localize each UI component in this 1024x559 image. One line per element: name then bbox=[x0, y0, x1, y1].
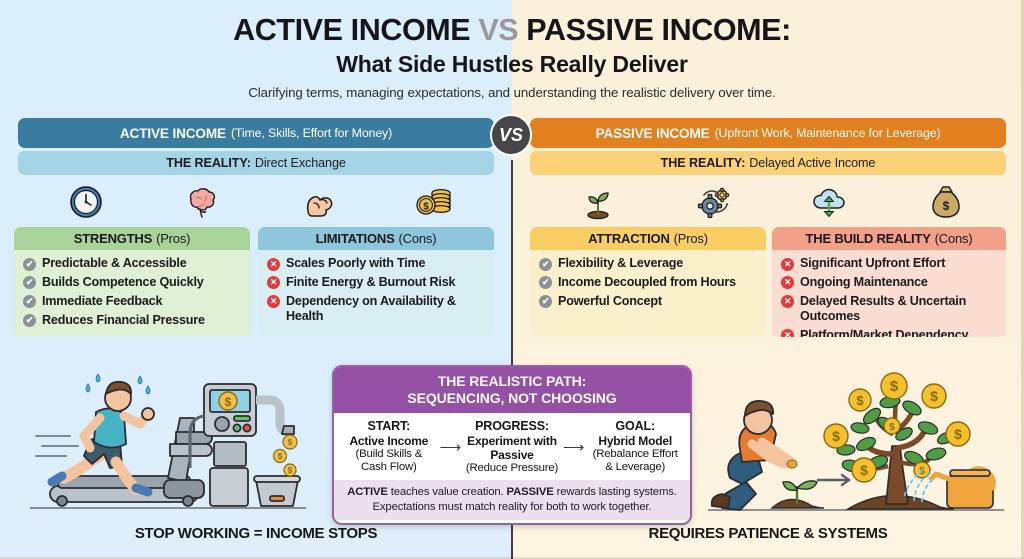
svg-text:$: $ bbox=[930, 388, 938, 404]
card-title-paren: (Cons) bbox=[399, 231, 437, 246]
list-item-label: Flexibility & Leverage bbox=[558, 256, 683, 271]
cross-icon: ✕ bbox=[267, 295, 280, 308]
cross-icon: ✕ bbox=[781, 276, 794, 289]
card-header: STRENGTHS (Pros) bbox=[14, 227, 250, 250]
card-title-paren: (Pros) bbox=[674, 231, 708, 246]
list-item: ✔ Immediate Feedback bbox=[23, 294, 242, 309]
step-note-2: Cash Flow) bbox=[338, 461, 440, 474]
flexed-biceps-icon bbox=[292, 180, 344, 224]
card-body: ✔ Flexibility & Leverage ✔ Income Decoup… bbox=[530, 250, 766, 321]
list-item-label: Reduces Financial Pressure bbox=[42, 313, 205, 328]
step-note-1: (Build Skills & bbox=[338, 448, 440, 461]
path-connector-line bbox=[511, 525, 513, 559]
seedling-icon bbox=[572, 180, 624, 224]
step-main: Experiment with Passive bbox=[461, 434, 563, 462]
list-item: ✕ Platform/Market Dependency bbox=[781, 328, 998, 337]
list-item: ✕ Significant Upfront Effort bbox=[781, 256, 998, 271]
page-description: Clarifying terms, managing expectations,… bbox=[0, 85, 1024, 100]
footer-mid-2: rewards lasting systems. bbox=[554, 486, 677, 498]
icon-row-active: $ bbox=[60, 180, 460, 224]
list-item: ✕ Ongoing Maintenance bbox=[781, 275, 998, 290]
reality-passive-text: Delayed Active Income bbox=[749, 156, 875, 170]
svg-text:$: $ bbox=[860, 462, 868, 478]
clock-icon bbox=[60, 180, 112, 224]
banner-passive-sub: (Upfront Work, Maintenance for Leverage) bbox=[715, 126, 941, 140]
check-icon: ✔ bbox=[23, 295, 36, 308]
card-active-limitations: LIMITATIONS (Cons) ✕ Scales Poorly with … bbox=[258, 227, 494, 337]
path-step-start: START: Active Income (Build Skills & Cas… bbox=[338, 419, 440, 474]
money-bag-icon: $ bbox=[920, 180, 972, 224]
path-step-goal: GOAL: Hybrid Model (Rebalance Effort & L… bbox=[584, 419, 686, 474]
reality-strip-passive: THE REALITY: Delayed Active Income bbox=[530, 151, 1006, 175]
card-body: ✔ Predictable & Accessible ✔ Builds Comp… bbox=[14, 250, 250, 337]
list-item-label: Immediate Feedback bbox=[42, 294, 162, 309]
arrow-icon: ⟶ bbox=[440, 419, 462, 456]
list-item: ✔ Flexibility & Leverage bbox=[539, 256, 758, 271]
list-item-label: Delayed Results & Uncertain Outcomes bbox=[800, 294, 998, 325]
card-title: ATTRACTION bbox=[588, 231, 670, 246]
check-icon: ✔ bbox=[539, 276, 552, 289]
card-body: ✕ Scales Poorly with Time ✕ Finite Energ… bbox=[258, 250, 494, 336]
list-item-label: Builds Competence Quickly bbox=[42, 275, 204, 290]
path-header: THE REALISTIC PATH: SEQUENCING, NOT CHOO… bbox=[334, 367, 690, 413]
cloud-sync-icon bbox=[804, 180, 856, 224]
card-title: LIMITATIONS bbox=[316, 231, 395, 246]
svg-text:$: $ bbox=[832, 428, 840, 444]
list-item-label: Dependency on Availability & Health bbox=[286, 294, 486, 325]
card-title: STRENGTHS bbox=[74, 231, 152, 246]
footer-strong-active: ACTIVE bbox=[347, 486, 388, 498]
path-steps: START: Active Income (Build Skills & Cas… bbox=[334, 413, 690, 480]
banner-active-title: ACTIVE INCOME bbox=[120, 126, 226, 141]
page-title: ACTIVE INCOME VS PASSIVE INCOME: bbox=[0, 14, 1024, 47]
check-icon: ✔ bbox=[23, 258, 36, 271]
card-passive-attraction: ATTRACTION (Pros) ✔ Flexibility & Levera… bbox=[530, 227, 766, 337]
arrow-icon: ⟶ bbox=[563, 419, 585, 456]
svg-text:$: $ bbox=[288, 438, 293, 447]
card-passive-build-reality: THE BUILD REALITY (Cons) ✕ Significant U… bbox=[772, 227, 1006, 337]
caption-active: STOP WORKING = INCOME STOPS bbox=[0, 525, 512, 542]
caption-passive: REQUIRES PATIENCE & SYSTEMS bbox=[512, 525, 1024, 542]
list-item-label: Platform/Market Dependency bbox=[800, 328, 968, 337]
path-header-line2: SEQUENCING, NOT CHOOSING bbox=[338, 390, 686, 407]
card-header: LIMITATIONS (Cons) bbox=[258, 227, 494, 250]
list-item: ✕ Dependency on Availability & Health bbox=[267, 294, 486, 325]
infographic-root: ACTIVE INCOME VS PASSIVE INCOME: What Si… bbox=[0, 0, 1024, 559]
page-subtitle-bold: What Side Hustles Really Deliver bbox=[0, 51, 1024, 78]
list-item-label: Powerful Concept bbox=[558, 294, 662, 309]
realistic-path-card: THE REALISTIC PATH: SEQUENCING, NOT CHOO… bbox=[332, 365, 692, 525]
path-footer-line1: ACTIVE teaches value creation. PASSIVE r… bbox=[342, 485, 682, 500]
list-item-label: Income Decoupled from Hours bbox=[558, 275, 736, 290]
step-note-1: (Rebalance Effort bbox=[584, 448, 686, 461]
card-title: THE BUILD REALITY bbox=[806, 231, 931, 246]
list-item: ✔ Reduces Financial Pressure bbox=[23, 313, 242, 328]
list-item: ✔ Powerful Concept bbox=[539, 294, 758, 309]
check-icon: ✔ bbox=[23, 314, 36, 327]
vs-badge-label: VS bbox=[499, 125, 523, 146]
reality-active-label: THE REALITY: bbox=[166, 156, 251, 170]
cross-icon: ✕ bbox=[267, 276, 280, 289]
list-item: ✕ Finite Energy & Burnout Risk bbox=[267, 275, 486, 290]
reality-active-text: Direct Exchange bbox=[255, 156, 346, 170]
svg-text:$: $ bbox=[225, 395, 232, 409]
footer-strong-passive: PASSIVE bbox=[507, 486, 554, 498]
coin-stack-icon: $ bbox=[408, 180, 460, 224]
cross-icon: ✕ bbox=[781, 329, 794, 337]
gears-cycle-icon bbox=[688, 180, 740, 224]
card-header: ATTRACTION (Pros) bbox=[530, 227, 766, 250]
cross-icon: ✕ bbox=[781, 295, 794, 308]
title-vs: VS bbox=[478, 13, 518, 47]
list-item-label: Predictable & Accessible bbox=[42, 256, 187, 271]
list-item-label: Finite Energy & Burnout Risk bbox=[286, 275, 455, 290]
icon-row-passive: $ bbox=[572, 180, 972, 224]
header: ACTIVE INCOME VS PASSIVE INCOME: What Si… bbox=[0, 14, 1024, 100]
list-item: ✕ Delayed Results & Uncertain Outcomes bbox=[781, 294, 998, 325]
list-item: ✔ Predictable & Accessible bbox=[23, 256, 242, 271]
step-label: PROGRESS: bbox=[461, 419, 563, 433]
svg-text:$: $ bbox=[890, 378, 899, 395]
list-item: ✔ Builds Competence Quickly bbox=[23, 275, 242, 290]
list-item: ✔ Income Decoupled from Hours bbox=[539, 275, 758, 290]
brain-icon bbox=[176, 180, 228, 224]
path-step-progress: PROGRESS: Experiment with Passive (Reduc… bbox=[461, 419, 563, 475]
cross-icon: ✕ bbox=[267, 258, 280, 271]
title-part-passive: PASSIVE INCOME: bbox=[518, 13, 791, 47]
svg-text:$: $ bbox=[943, 199, 950, 213]
check-icon: ✔ bbox=[539, 295, 552, 308]
card-header: THE BUILD REALITY (Cons) bbox=[772, 227, 1006, 250]
svg-text:$: $ bbox=[856, 393, 864, 408]
path-header-line1: THE REALISTIC PATH: bbox=[338, 373, 686, 390]
banner-active-sub: (Time, Skills, Effort for Money) bbox=[231, 126, 392, 140]
svg-text:$: $ bbox=[954, 426, 962, 442]
svg-text:$: $ bbox=[889, 422, 895, 433]
reality-passive-label: THE REALITY: bbox=[661, 156, 746, 170]
list-item: ✕ Scales Poorly with Time bbox=[267, 256, 486, 271]
card-body: ✕ Significant Upfront Effort ✕ Ongoing M… bbox=[772, 250, 1006, 337]
cross-icon: ✕ bbox=[781, 258, 794, 271]
step-note-1: (Reduce Pressure) bbox=[461, 462, 563, 475]
step-label: START: bbox=[338, 419, 440, 433]
path-footer-line2: Expectations must match reality for both… bbox=[342, 500, 682, 515]
list-item-label: Ongoing Maintenance bbox=[800, 275, 928, 290]
footer-mid-1: teaches value creation. bbox=[388, 486, 507, 498]
reality-strip-active: THE REALITY: Direct Exchange bbox=[18, 151, 494, 175]
svg-text:$: $ bbox=[423, 202, 429, 213]
step-main: Active Income bbox=[338, 434, 440, 448]
banner-passive-title: PASSIVE INCOME bbox=[596, 126, 710, 141]
check-icon: ✔ bbox=[23, 276, 36, 289]
svg-text:$: $ bbox=[288, 466, 293, 475]
banner-active-income: ACTIVE INCOME (Time, Skills, Effort for … bbox=[18, 118, 494, 148]
list-item-label: Scales Poorly with Time bbox=[286, 256, 425, 271]
illustration-money-tree: $ $ $ $ $ $ $ $ bbox=[700, 358, 1012, 528]
title-part-active: ACTIVE INCOME bbox=[233, 13, 478, 47]
path-footer: ACTIVE teaches value creation. PASSIVE r… bbox=[334, 480, 690, 520]
vs-badge: VS bbox=[490, 114, 532, 156]
list-item-label: Significant Upfront Effort bbox=[800, 256, 945, 271]
illustration-treadmill-runner: $$$ $ $ bbox=[18, 358, 318, 528]
step-label: GOAL: bbox=[584, 419, 686, 433]
check-icon: ✔ bbox=[539, 258, 552, 271]
step-note-2: & Leverage) bbox=[584, 461, 686, 474]
step-main: Hybrid Model bbox=[584, 434, 686, 448]
banner-passive-income: PASSIVE INCOME (Upfront Work, Maintenanc… bbox=[530, 118, 1006, 148]
svg-text:$: $ bbox=[278, 452, 283, 461]
card-title-paren: (Pros) bbox=[156, 231, 190, 246]
card-active-strengths: STRENGTHS (Pros) ✔ Predictable & Accessi… bbox=[14, 227, 250, 337]
card-title-paren: (Cons) bbox=[935, 231, 973, 246]
